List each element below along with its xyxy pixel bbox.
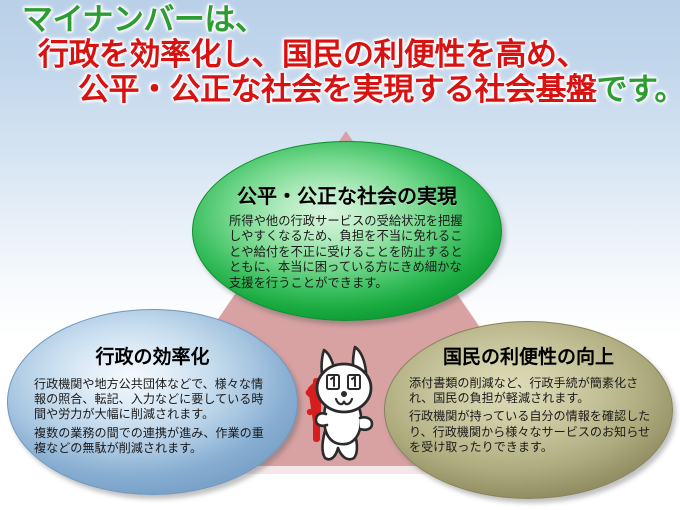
bubble-convenience-title: 国民の利便性の向上 <box>385 342 672 369</box>
bubble-efficiency[interactable]: 行政の効率化 行政機関や地方公共団体などで、様々な情報の照合、転記、入力などに要… <box>7 309 298 495</box>
bubble-fairness[interactable]: 公平・公正な社会の実現 所得や他の行政サービスの受給状況を把握しやすくなるため、… <box>192 141 502 321</box>
bubble-efficiency-body: 行政機関や地方公共団体などで、様々な情報の照合、転記、入力などに要している時間や… <box>34 377 273 456</box>
mascot-nose <box>341 391 347 397</box>
mascot-head <box>317 364 371 412</box>
mascot-eye-left <box>327 375 339 389</box>
bubble-convenience-paragraph-2: 行政機関が持っている自分の情報を確認したり、行政機関から様々なサービスのお知らせ… <box>409 409 652 455</box>
bubble-efficiency-paragraph-1: 行政機関や地方公共団体などで、様々な情報の照合、転記、入力などに要している時間や… <box>34 377 273 423</box>
bubble-convenience-body: 添付書類の削減など、行政手続が簡素化され、国民の負担が軽減されます。 行政機関が… <box>409 376 652 455</box>
infographic-canvas: マイナンバーは、 行政を効率化し、国民の利便性を高め、 公平・公正な社会を実現す… <box>0 0 680 510</box>
bubble-fairness-body: 所得や他の行政サービスの受給状況を把握しやすくなるため、負担を不当に免れることや… <box>229 214 467 291</box>
bubble-efficiency-title: 行政の効率化 <box>8 342 297 369</box>
bubble-efficiency-paragraph-2: 複数の業務の間での連携が進み、作業の重複などの無駄が削減されます。 <box>34 426 273 456</box>
bubble-convenience-paragraph-1: 添付書類の削減など、行政手続が簡素化され、国民の負担が軽減されます。 <box>409 376 652 406</box>
bubble-fairness-paragraph-1: 所得や他の行政サービスの受給状況を把握しやすくなるため、負担を不当に免れることや… <box>229 214 467 291</box>
bubble-fairness-title: 公平・公正な社会の実現 <box>193 180 501 209</box>
mascot-rabbit <box>300 342 396 470</box>
bubble-convenience[interactable]: 国民の利便性の向上 添付書類の削減など、行政手続が簡素化され、国民の負担が軽減さ… <box>384 321 673 499</box>
mascot-eye-right <box>348 375 360 389</box>
mascot-svg <box>300 342 396 470</box>
mascot-arm-right <box>360 417 372 429</box>
mascot-arm-left <box>316 413 327 425</box>
